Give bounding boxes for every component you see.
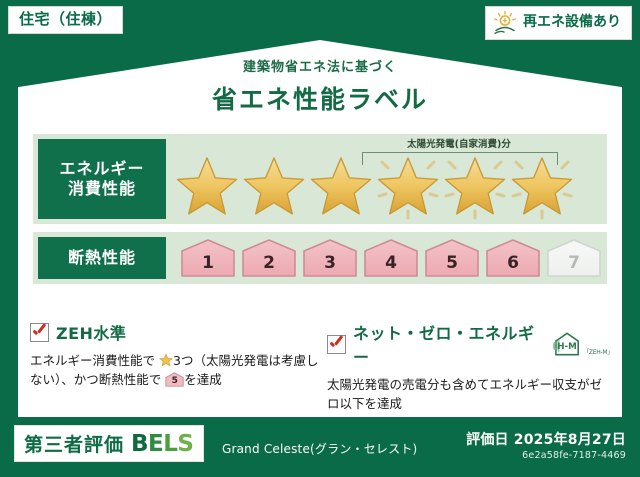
zeh-text-post: を達成 [184,372,222,387]
inline-star-icon [159,353,173,367]
building-name: Grand Celeste(グラン・セレスト) [222,440,417,457]
star-icon [243,156,305,216]
insulation-level-5: 5 [424,238,480,278]
evaluation-date: 評価日 2025年8月27日 [466,429,626,449]
insulation-level-number: 4 [363,253,419,273]
building-type-badge: 住宅（住棟） [8,6,123,34]
energy-performance-label: エネルギー 消費性能 [38,139,166,219]
insulation-level-number: 2 [241,253,297,273]
zeh-m-logo-caption: 「ZEH-M」 [583,347,612,356]
energy-label-line1: エネルギー [59,159,144,179]
insulation-level-number: 1 [180,253,236,273]
insulation-level-number: 3 [302,253,358,273]
page-title: 建築物省エネ法に基づく 省エネ性能ラベル [0,56,640,116]
insulation-performance-row: 断熱性能 1 2 [33,232,607,284]
star-icon [444,156,506,216]
zeh-checkbox-icon [30,323,49,342]
nze-title: ネット・ゼロ・エネルギー [353,320,545,368]
insulation-scale: 1 2 3 [166,232,607,284]
star-icon [511,156,573,216]
energy-label-line2: 消費性能 [68,179,136,199]
sun-solar-icon [492,10,518,36]
zeh-m-logo-icon: H-M 「ZEH-M」 [553,331,612,357]
title-main: 省エネ性能ラベル [0,80,640,116]
building-type-label: 住宅（住棟） [19,10,112,28]
performance-panel: エネルギー 消費性能 太陽光発電(自家消費)分 [33,134,607,292]
title-subtitle: 建築物省エネ法に基づく [0,56,640,75]
insulation-level-number: 7 [546,253,602,273]
energy-label-root: 住宅（住棟） 再エネ設備あり 建築物省エネ法に基づく 省エネ性 [0,0,640,477]
star-rating: 太陽光発電(自家消費)分 [166,134,607,224]
zeh-text-pre: エネルギー消費性能で [30,353,155,368]
bels-en-logo: BELS [131,431,193,457]
energy-performance-row: エネルギー 消費性能 太陽光発電(自家消費)分 [33,134,607,224]
bels-badge: 第三者評価 BELS [14,425,204,462]
insulation-level-4: 4 [363,238,419,278]
insulation-level-7: 7 [546,238,602,278]
criterion-net-zero-energy: ネット・ゼロ・エネルギー H-M 「ZEH-M」 太陽光発電の売電分も含めてエネ… [327,320,612,414]
insulation-performance-label: 断熱性能 [38,237,166,279]
insulation-level-3: 3 [302,238,358,278]
insulation-level-6: 6 [485,238,541,278]
inline-house-number: 5 [165,375,184,389]
evaluation-id: 6e2a58fe-7187-4469 [522,450,626,461]
footer: 第三者評価 BELS Grand Celeste(グラン・セレスト) 評価日 2… [0,417,640,477]
bels-jp-label: 第三者評価 [24,430,124,457]
nze-description: 太陽光発電の売電分も含めてエネルギー収支がゼロ以下を達成 [327,375,612,414]
inline-house-level-icon: 5 [165,372,184,387]
star-icon [176,156,238,216]
insulation-level-number: 5 [424,253,480,273]
zeh-title: ZEH水準 [56,320,126,344]
renewable-equipment-badge: 再エネ設備あり [485,6,632,40]
renewable-badge-label: 再エネ設備あり [523,15,621,30]
insulation-label-text: 断熱性能 [68,248,136,268]
insulation-level-1: 1 [180,238,236,278]
criterion-zeh: ZEH水準 エネルギー消費性能で 3つ（太陽光発電は考慮しない）、かつ断熱性能で… [30,320,320,390]
insulation-level-number: 6 [485,253,541,273]
insulation-level-2: 2 [241,238,297,278]
nze-checkbox-icon [327,335,346,354]
star-icon [377,156,439,216]
svg-text:H-M: H-M [557,342,577,352]
zeh-description: エネルギー消費性能で 3つ（太陽光発電は考慮しない）、かつ断熱性能で 5 を達成 [30,351,320,390]
star-icon [310,156,372,216]
